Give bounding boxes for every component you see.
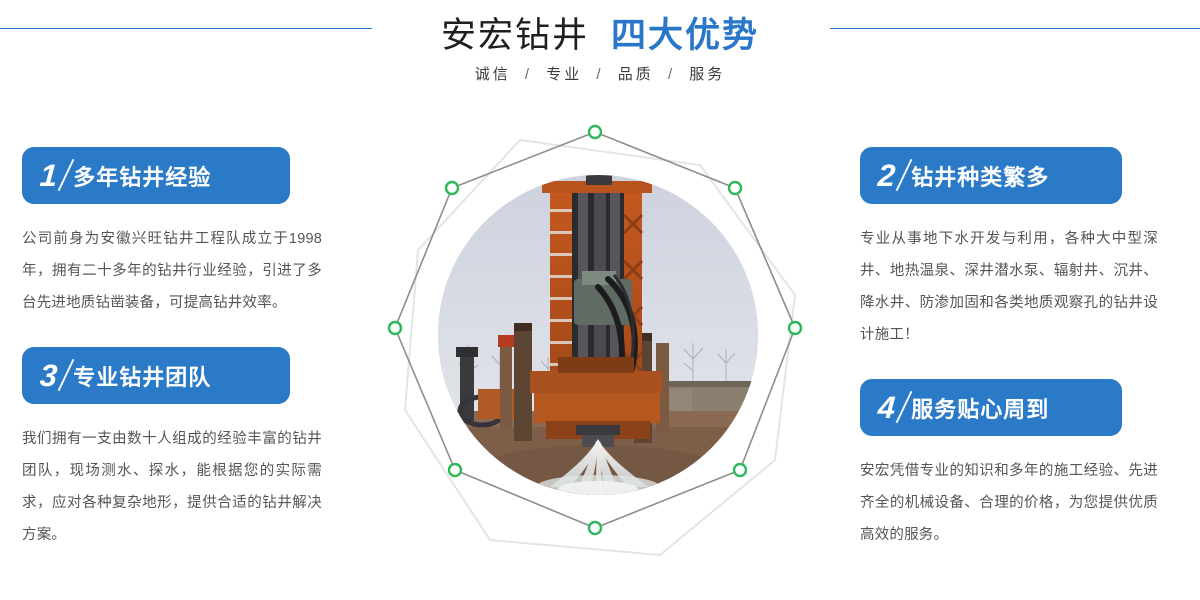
feature-number-icon-3: 3: [39, 360, 70, 391]
drilling-rig-photo: [438, 175, 758, 495]
page-header: 安宏钻井四大优势 诚信 / 专业 / 品质 / 服务: [0, 0, 1200, 110]
feature-title-2: 钻井种类繁多: [911, 160, 1049, 192]
features-column-left: 1 多年钻井经验 公司前身为安徽兴旺钻井工程队成立于1998年，拥有二十多年的钻…: [22, 147, 322, 551]
feature-body-1: 公司前身为安徽兴旺钻井工程队成立于1998年，拥有二十多年的钻井行业经验，引进了…: [22, 223, 322, 319]
subtitle-separator-2: /: [668, 66, 675, 83]
page-subtitle: 诚信 / 专业 / 品质 / 服务: [0, 63, 1200, 84]
subtitle-item-2: 品质: [618, 66, 654, 83]
feature-number-icon-2: 2: [877, 160, 908, 191]
subtitle-separator-1: /: [596, 66, 603, 83]
subtitle-item-0: 诚信: [475, 66, 511, 83]
feature-card-4: 4 服务贴心周到 安宏凭借专业的知识和多年的施工经验、先进齐全的机械设备、合理的…: [860, 379, 1160, 551]
subtitle-item-3: 服务: [689, 66, 725, 83]
vertex-dot-icon: [589, 522, 601, 534]
feature-title-1: 多年钻井经验: [73, 160, 211, 192]
feature-body-3: 我们拥有一支由数十人组成的经验丰富的钻井团队，现场测水、探水，能根据您的实际需求…: [22, 423, 322, 551]
subtitle-separator-0: /: [525, 66, 532, 83]
feature-card-2: 2 钻井种类繁多 专业从事地下水开发与利用，各种大中型深井、地热温泉、深井潜水泵…: [860, 147, 1160, 351]
features-column-right: 2 钻井种类繁多 专业从事地下水开发与利用，各种大中型深井、地热温泉、深井潜水泵…: [860, 147, 1160, 551]
page-title-brand: 安宏钻井: [441, 16, 589, 55]
page-title-highlight: 四大优势: [611, 16, 759, 55]
feature-badge-4[interactable]: 4 服务贴心周到: [860, 379, 1122, 436]
feature-card-3: 3 专业钻井团队 我们拥有一支由数十人组成的经验丰富的钻井团队，现场测水、探水，…: [22, 347, 322, 551]
feature-badge-3[interactable]: 3 专业钻井团队: [22, 347, 290, 404]
feature-title-3: 专业钻井团队: [73, 360, 211, 392]
center-graphic: [370, 110, 830, 580]
feature-badge-2[interactable]: 2 钻井种类繁多: [860, 147, 1122, 204]
feature-badge-1[interactable]: 1 多年钻井经验: [22, 147, 290, 204]
feature-body-4: 安宏凭借专业的知识和多年的施工经验、先进齐全的机械设备、合理的价格，为您提供优质…: [860, 455, 1158, 551]
feature-number-icon-1: 1: [39, 160, 70, 191]
feature-card-1: 1 多年钻井经验 公司前身为安徽兴旺钻井工程队成立于1998年，拥有二十多年的钻…: [22, 147, 322, 319]
feature-title-4: 服务贴心周到: [911, 392, 1049, 424]
vertex-dot-icon: [789, 322, 801, 334]
drilling-rig-illustration: [438, 175, 758, 495]
page-title: 安宏钻井四大优势: [0, 7, 1200, 58]
subtitle-item-1: 专业: [546, 66, 582, 83]
vertex-dot-icon: [589, 126, 601, 138]
feature-number-icon-4: 4: [877, 392, 908, 423]
feature-body-2: 专业从事地下水开发与利用，各种大中型深井、地热温泉、深井潜水泵、辐射井、沉井、降…: [860, 223, 1158, 351]
vertex-dot-icon: [389, 322, 401, 334]
